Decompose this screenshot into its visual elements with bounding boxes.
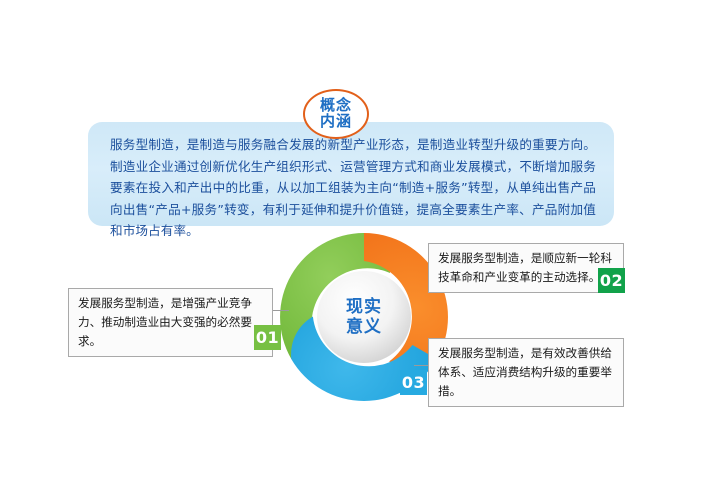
number-badge-01: 01 — [254, 325, 281, 350]
number-badge-02: 02 — [598, 268, 625, 293]
callout-box-03: 发展服务型制造，是有效改善供给体系、适应消费结构升级的重要举措。 — [428, 338, 624, 407]
infographic-canvas: 服务型制造，是制造与服务融合发展的新型产业形态，是制造业转型升级的重要方向。制造… — [0, 0, 702, 497]
callout-box-01: 发展服务型制造，是增强产业竞争力、推动制造业由大变强的必然要求。 — [68, 288, 273, 357]
callout-box-02: 发展服务型制造，是顺应新一轮科技革命和产业变革的主动选择。 — [428, 243, 624, 293]
center-sphere — [317, 271, 411, 363]
connector-line-01 — [273, 310, 289, 311]
number-badge-03: 03 — [400, 370, 427, 395]
concept-title-line2: 内涵 — [320, 114, 352, 130]
concept-title-badge: 概念 内涵 — [303, 89, 369, 139]
concept-paragraph-text: 服务型制造，是制造与服务融合发展的新型产业形态，是制造业转型升级的重要方向。制造… — [110, 134, 596, 242]
